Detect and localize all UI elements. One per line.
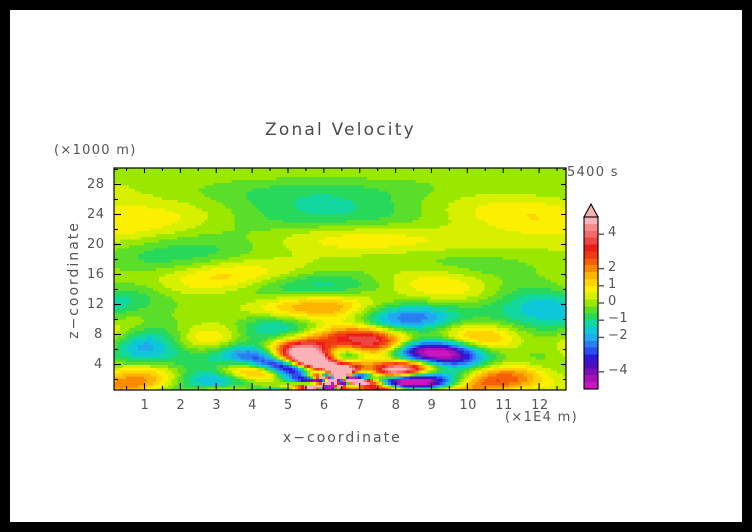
colorbar-tick-label: 0 xyxy=(608,294,617,309)
x-tick-label: 9 xyxy=(427,398,436,413)
velocity-field xyxy=(114,168,567,391)
y-tick-label: 20 xyxy=(87,237,105,252)
x-tick-label: 7 xyxy=(356,398,365,413)
x-tick-label: 10 xyxy=(459,398,477,413)
contour-plot xyxy=(10,10,742,522)
x-tick-label: 5 xyxy=(284,398,293,413)
x-tick-label: 3 xyxy=(212,398,221,413)
colorbar-tick-label: −2 xyxy=(608,328,628,343)
y-tick-label: 8 xyxy=(94,327,103,342)
x-tick-label: 11 xyxy=(495,398,513,413)
colorbar-tick-label: −1 xyxy=(608,311,628,326)
colorbar xyxy=(584,204,604,389)
y-tick-label: 16 xyxy=(87,267,105,282)
x-tick-label: 8 xyxy=(392,398,401,413)
x-tick-label: 6 xyxy=(320,398,329,413)
figure-page: Zonal Velocity (×1000 m) 5400 s (×1E4 m)… xyxy=(10,10,742,522)
colorbar-tick-label: 2 xyxy=(608,260,617,275)
colorbar-top-arrow xyxy=(584,204,598,217)
x-tick-label: 1 xyxy=(140,398,149,413)
y-tick-label: 24 xyxy=(87,207,105,222)
colorbar-tick-label: 1 xyxy=(608,277,617,292)
x-tick-label: 12 xyxy=(531,398,549,413)
x-tick-label: 4 xyxy=(248,398,257,413)
y-tick-label: 12 xyxy=(87,297,105,312)
y-tick-label: 4 xyxy=(94,357,103,372)
colorbar-tick-label: −4 xyxy=(608,363,628,378)
colorbar-tick-label: 4 xyxy=(608,225,617,240)
x-tick-label: 2 xyxy=(176,398,185,413)
y-tick-label: 28 xyxy=(87,177,105,192)
